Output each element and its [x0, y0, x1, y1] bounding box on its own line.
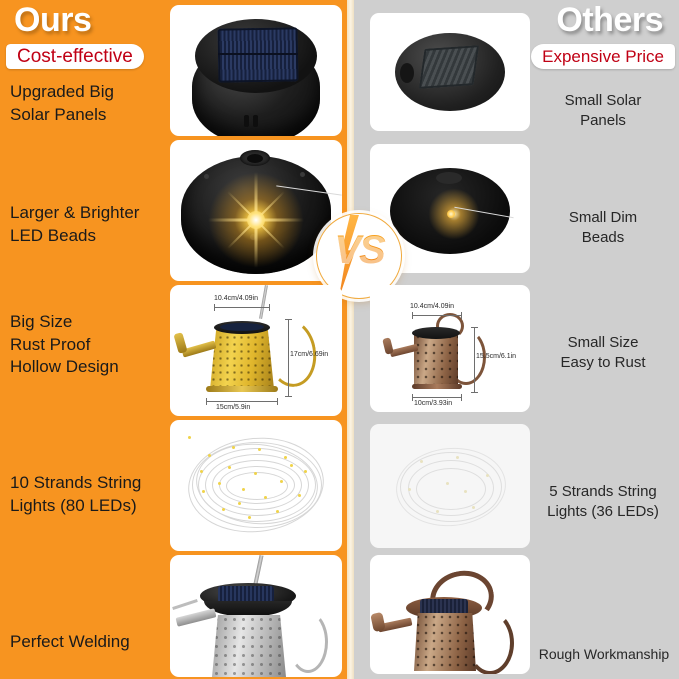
- caption-line: Small Solar Panels: [533, 91, 673, 131]
- ours-caption-string-lights: 10 Strands String Lights (80 LEDs): [10, 472, 162, 517]
- others-image-watering-can: 10.4cm/4.09in 15.5cm/6.1in 10cm/3.93in: [370, 285, 530, 412]
- ours-image-string-lights: [170, 420, 342, 551]
- row-size-build: 10.4cm/4.09in 17cm/6.69in 15cm/5.9in: [0, 285, 679, 416]
- caption-line: Larger & Brighter LED Beads: [10, 202, 162, 247]
- ours-image-watering-can: 10.4cm/4.09in 17cm/6.69in 15cm/5.9in: [170, 285, 342, 416]
- caption-line: Big Size Rust Proof Hollow Design: [10, 311, 162, 379]
- others-caption-workmanship: Rough Workmanship: [529, 645, 679, 664]
- others-dim-bottom: 10cm/3.93in: [414, 400, 452, 407]
- ours-dim-bottom: 15cm/5.9in: [216, 404, 250, 411]
- others-caption-led-beads: Small Dim Beads: [533, 208, 673, 248]
- ours-dim-side: 17cm/6.69in: [290, 351, 328, 358]
- others-image-solar-panel: [370, 13, 530, 131]
- ours-caption-led-beads: Larger & Brighter LED Beads: [10, 202, 162, 247]
- others-caption-size-build: Small Size Easy to Rust: [533, 333, 673, 373]
- ours-caption-workmanship: Perfect Welding: [10, 631, 162, 654]
- comparison-infographic: Ours Cost-effective Others Expensive Pri…: [0, 0, 679, 679]
- caption-line: Small Dim Beads: [533, 208, 673, 248]
- caption-line: 5 Strands String Lights (36 LEDs): [533, 482, 673, 522]
- ours-image-welding: [170, 555, 342, 677]
- row-string-lights: 10 Strands String Lights (80 LEDs) 5 Str…: [0, 420, 679, 551]
- ours-dim-top: 10.4cm/4.09in: [214, 295, 258, 302]
- caption-line: 10 Strands String Lights (80 LEDs): [10, 472, 162, 517]
- others-caption-string-lights: 5 Strands String Lights (36 LEDs): [533, 482, 673, 522]
- ours-caption-size-build: Big Size Rust Proof Hollow Design: [10, 311, 162, 379]
- row-workmanship: Perfect Welding Rough Workmanship: [0, 555, 679, 677]
- caption-line: Rough Workmanship: [529, 645, 679, 664]
- caption-line: Upgraded Big Solar Panels: [10, 81, 162, 126]
- vs-label: VS: [316, 230, 402, 270]
- caption-line: Perfect Welding: [10, 631, 162, 654]
- others-image-string-lights: [370, 424, 530, 548]
- others-caption-solar-panels: Small Solar Panels: [533, 91, 673, 131]
- row-solar-panels: Upgraded Big Solar Panels Small Solar Pa…: [0, 5, 679, 136]
- others-image-workmanship: [370, 555, 530, 674]
- caption-line: Small Size Easy to Rust: [533, 333, 673, 373]
- others-dim-top: 10.4cm/4.09in: [410, 303, 454, 310]
- ours-caption-solar-panels: Upgraded Big Solar Panels: [10, 81, 162, 126]
- ours-image-solar-panel: [170, 5, 342, 136]
- others-dim-side: 15.5cm/6.1in: [476, 353, 516, 360]
